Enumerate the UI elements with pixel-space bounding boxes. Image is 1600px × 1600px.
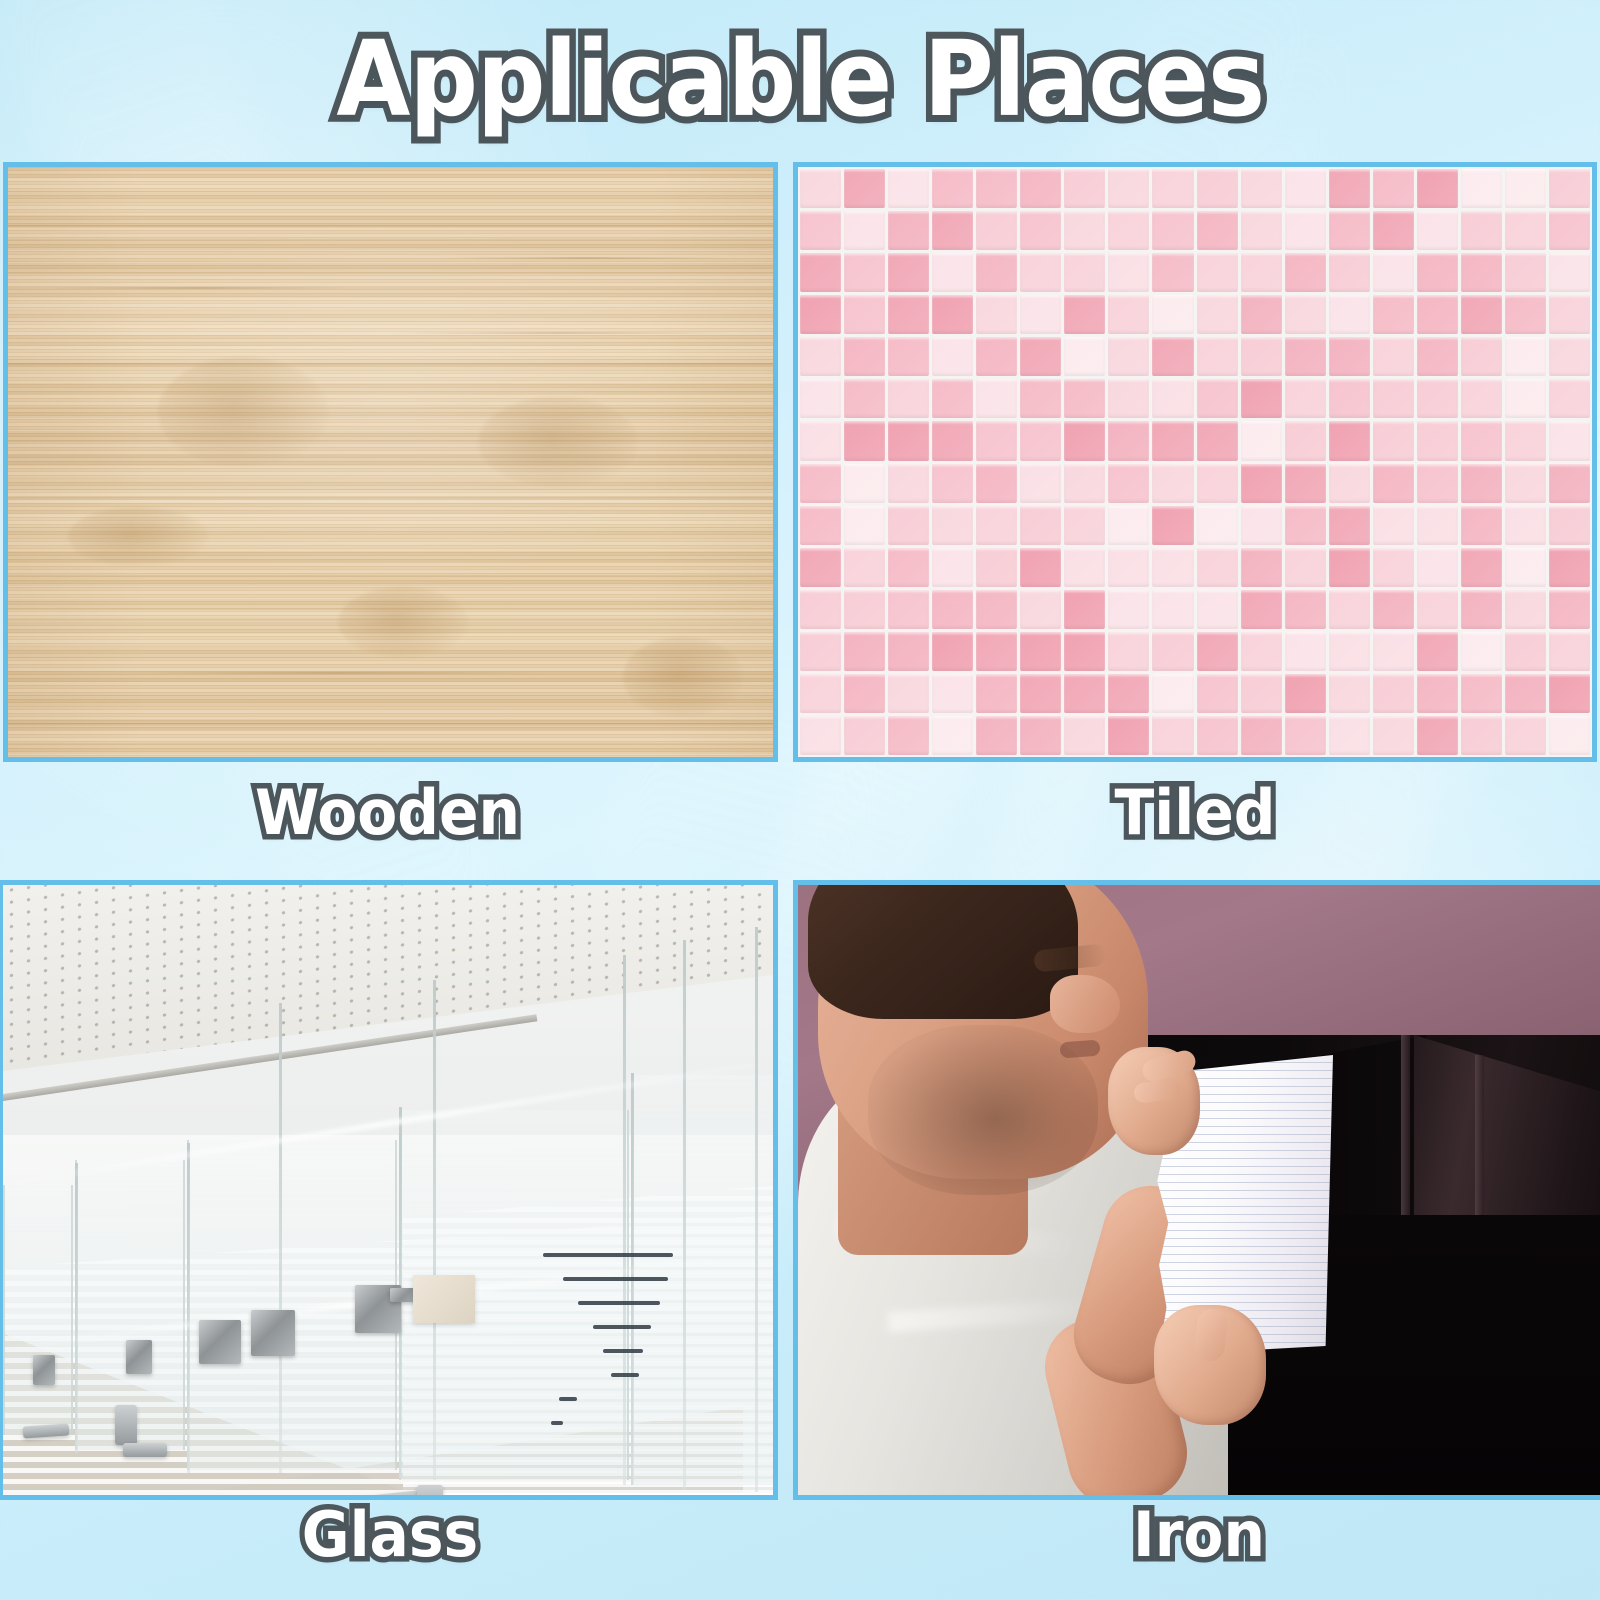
mosaic-tile <box>844 632 885 671</box>
mosaic-tile <box>1108 632 1149 671</box>
mosaic-tile <box>1197 169 1238 208</box>
mosaic-tile <box>1461 464 1502 503</box>
mosaic-tile <box>844 253 885 292</box>
mosaic-tile <box>1417 506 1458 545</box>
mosaic-tile <box>1197 295 1238 334</box>
mosaic-tile <box>1549 421 1590 460</box>
mosaic-tile <box>976 211 1017 250</box>
mosaic-tile <box>1417 421 1458 460</box>
mosaic-tile <box>1285 421 1326 460</box>
mosaic-tile <box>1064 548 1105 587</box>
mosaic-tile <box>976 295 1017 334</box>
mosaic-tile <box>844 169 885 208</box>
mosaic-tile <box>1020 421 1061 460</box>
iron-scene <box>798 885 1600 1495</box>
page-title: Applicable Places <box>336 18 1264 140</box>
mosaic-tile <box>1549 169 1590 208</box>
mosaic-tile <box>1020 548 1061 587</box>
mosaic-tile <box>1020 590 1061 629</box>
mosaic-tile <box>888 421 929 460</box>
mosaic-tile <box>1241 421 1282 460</box>
mosaic-tile <box>1241 674 1282 713</box>
mosaic-tile <box>888 211 929 250</box>
mosaic-tile <box>800 674 841 713</box>
mosaic-tile <box>976 464 1017 503</box>
mosaic-tile <box>844 716 885 755</box>
mosaic-tile <box>1152 169 1193 208</box>
mosaic-tile <box>1285 506 1326 545</box>
mosaic-tile <box>1064 337 1105 376</box>
mosaic-tile <box>1417 295 1458 334</box>
mosaic-tile <box>1329 211 1370 250</box>
mosaic-tile <box>1108 295 1149 334</box>
mosaic-tile <box>1549 506 1590 545</box>
mosaic-tile <box>1417 716 1458 755</box>
mosaic-tile <box>1152 590 1193 629</box>
mosaic-tile <box>1329 421 1370 460</box>
mosaic-tile <box>1197 464 1238 503</box>
mosaic-tile <box>1241 590 1282 629</box>
mosaic-tile <box>1020 506 1061 545</box>
mosaic-tile <box>1241 253 1282 292</box>
mosaic-tile <box>1505 337 1546 376</box>
person-hair <box>808 880 1078 1019</box>
caption-tiled: Tiled <box>817 776 1573 849</box>
mosaic-tile <box>932 211 973 250</box>
mosaic-tile <box>1285 548 1326 587</box>
mosaic-tile <box>1108 548 1149 587</box>
mosaic-tile <box>1152 421 1193 460</box>
mosaic-tile <box>976 716 1017 755</box>
mosaic-tile <box>1549 632 1590 671</box>
glass-scene <box>3 885 773 1495</box>
mosaic-tile <box>976 379 1017 418</box>
mosaic-tile <box>1285 632 1326 671</box>
mosaic-tile <box>1197 716 1238 755</box>
mosaic-tile <box>1241 169 1282 208</box>
mosaic-tile <box>1197 548 1238 587</box>
mosaic-tile <box>932 716 973 755</box>
mosaic-tile <box>888 506 929 545</box>
mosaic-tile <box>800 169 841 208</box>
mosaic-tile <box>888 674 929 713</box>
mosaic-tile <box>800 295 841 334</box>
mosaic-tile <box>800 253 841 292</box>
mosaic-tile <box>800 211 841 250</box>
mosaic-tile <box>1461 632 1502 671</box>
mosaic-tile <box>1064 464 1105 503</box>
mosaic-tile <box>1108 253 1149 292</box>
mosaic-tile <box>1020 169 1061 208</box>
mosaic-tile <box>800 506 841 545</box>
mosaic-tile <box>888 632 929 671</box>
mosaic-tile <box>1373 716 1414 755</box>
mosaic-tile <box>1329 253 1370 292</box>
panel-tiled <box>793 162 1597 762</box>
mosaic-tile <box>1505 295 1546 334</box>
mosaic-tile <box>888 464 929 503</box>
mosaic-tile <box>976 590 1017 629</box>
mosaic-tile <box>1152 674 1193 713</box>
mosaic-tile <box>800 421 841 460</box>
mosaic-tile <box>1505 632 1546 671</box>
mosaic-tile <box>976 548 1017 587</box>
mosaic-tile <box>1020 295 1061 334</box>
mosaic-tile <box>1197 253 1238 292</box>
mosaic-tile <box>1241 506 1282 545</box>
mosaic-tile <box>1417 169 1458 208</box>
mosaic-tile <box>1197 632 1238 671</box>
mosaic-tile <box>1020 379 1061 418</box>
mosaic-tile <box>1373 169 1414 208</box>
mosaic-tile <box>1064 632 1105 671</box>
mosaic-tile <box>1108 464 1149 503</box>
mosaic-tile <box>1373 337 1414 376</box>
mosaic-tile <box>1241 295 1282 334</box>
caption-iron: Iron <box>817 1498 1580 1571</box>
mosaic-tile <box>1108 590 1149 629</box>
mosaic-tile <box>1549 337 1590 376</box>
mosaic-tile <box>1241 716 1282 755</box>
mosaic-tile <box>1064 716 1105 755</box>
mosaic-tile <box>1197 211 1238 250</box>
mosaic-tile <box>1461 506 1502 545</box>
mosaic-tile <box>1373 632 1414 671</box>
mosaic-tile <box>1197 379 1238 418</box>
mosaic-tile <box>1241 548 1282 587</box>
mosaic-tile <box>1461 590 1502 629</box>
mosaic-tile <box>1505 253 1546 292</box>
mosaic-tile <box>1417 379 1458 418</box>
mosaic-tile <box>1064 674 1105 713</box>
mosaic-tile <box>888 337 929 376</box>
mosaic-tile <box>800 590 841 629</box>
mosaic-tile <box>888 548 929 587</box>
mosaic-tile <box>1020 253 1061 292</box>
mosaic-tile <box>932 464 973 503</box>
mosaic-tile <box>1152 464 1193 503</box>
mosaic-tile <box>1197 337 1238 376</box>
mosaic-tile <box>1329 295 1370 334</box>
mosaic-tile <box>1108 674 1149 713</box>
mosaic-tile <box>1285 337 1326 376</box>
mosaic-tile <box>1329 590 1370 629</box>
mosaic-tile <box>1064 590 1105 629</box>
mosaic-tile <box>1285 464 1326 503</box>
mosaic-tile <box>1064 211 1105 250</box>
mosaic-tile <box>844 464 885 503</box>
mosaic-tile <box>1064 253 1105 292</box>
mosaic-tile <box>1417 211 1458 250</box>
mosaic-tile <box>1064 506 1105 545</box>
mosaic-tile <box>976 337 1017 376</box>
mosaic-tile <box>1197 674 1238 713</box>
mosaic-tile <box>888 590 929 629</box>
mosaic-tile <box>932 253 973 292</box>
mosaic-tile <box>844 506 885 545</box>
mosaic-tile <box>888 379 929 418</box>
mosaic-tile <box>1020 211 1061 250</box>
mosaic-tile <box>1373 590 1414 629</box>
mosaic-tile <box>888 169 929 208</box>
mosaic-tile <box>844 379 885 418</box>
mosaic-tile <box>1152 548 1193 587</box>
mosaic-tile <box>1549 716 1590 755</box>
mosaic-tile <box>1373 253 1414 292</box>
mosaic-tile <box>1285 590 1326 629</box>
mosaic-tile <box>1461 253 1502 292</box>
mosaic-tile <box>1108 169 1149 208</box>
mosaic-tile <box>1064 169 1105 208</box>
mosaic-tile <box>1505 169 1546 208</box>
mosaic-tile <box>1461 548 1502 587</box>
mosaic-tile <box>1505 716 1546 755</box>
mosaic-tile <box>1549 590 1590 629</box>
mosaic-tile <box>1152 253 1193 292</box>
mosaic-tile <box>1505 674 1546 713</box>
mosaic-tile <box>1285 169 1326 208</box>
mosaic-tile <box>1108 506 1149 545</box>
mosaic-tile <box>844 295 885 334</box>
mosaic-tile <box>1417 632 1458 671</box>
mosaic-tile <box>1461 716 1502 755</box>
mosaic-tile <box>932 421 973 460</box>
panel-wooden <box>3 162 778 762</box>
mosaic-tile <box>1417 674 1458 713</box>
mosaic-tile <box>1241 379 1282 418</box>
mosaic-tile <box>1373 421 1414 460</box>
mosaic-tile <box>800 379 841 418</box>
mosaic-tile <box>1329 506 1370 545</box>
mosaic-tile <box>1461 295 1502 334</box>
mosaic-tile <box>1152 506 1193 545</box>
mosaic-tile <box>932 295 973 334</box>
mosaic-tile <box>1329 379 1370 418</box>
mosaic-tile <box>976 253 1017 292</box>
caption-glass: Glass <box>23 1498 756 1571</box>
mosaic-tile <box>1373 211 1414 250</box>
mosaic-tile <box>1461 421 1502 460</box>
panel-glass <box>0 880 778 1500</box>
mosaic-tile <box>1373 295 1414 334</box>
mosaic-tile <box>1064 421 1105 460</box>
mosaic-tile <box>1417 337 1458 376</box>
mosaic-tile <box>1020 464 1061 503</box>
mosaic-tile <box>1285 253 1326 292</box>
mosaic-tile <box>1417 464 1458 503</box>
mosaic-tile <box>1064 295 1105 334</box>
mosaic-tile <box>932 632 973 671</box>
mosaic-tile <box>1373 548 1414 587</box>
mosaic-tile <box>1417 548 1458 587</box>
mosaic-tile <box>932 379 973 418</box>
mosaic-tile <box>1549 464 1590 503</box>
mosaic-tile <box>1108 211 1149 250</box>
mosaic-tile <box>1461 337 1502 376</box>
mosaic-tile <box>976 169 1017 208</box>
mosaic-tile <box>1373 379 1414 418</box>
mosaic-tile <box>1285 674 1326 713</box>
mosaic-tile <box>1152 379 1193 418</box>
mosaic-tile <box>1020 716 1061 755</box>
mosaic-tile <box>1241 632 1282 671</box>
mosaic-tile <box>932 337 973 376</box>
mosaic-tile <box>844 337 885 376</box>
mosaic-tile <box>800 337 841 376</box>
mosaic-tile <box>1505 421 1546 460</box>
mosaic-tile <box>976 506 1017 545</box>
mosaic-tile <box>1108 716 1149 755</box>
mosaic-tile <box>932 548 973 587</box>
mosaic-tile <box>976 674 1017 713</box>
mosaic-tile <box>1152 716 1193 755</box>
mosaic-tile-grid <box>798 167 1592 757</box>
mosaic-tile <box>1329 464 1370 503</box>
mosaic-tile <box>1505 548 1546 587</box>
mosaic-tile <box>1108 379 1149 418</box>
mosaic-tile <box>1329 169 1370 208</box>
mosaic-tile <box>1197 590 1238 629</box>
mosaic-tile <box>1417 253 1458 292</box>
mosaic-tile <box>1417 590 1458 629</box>
mosaic-tile <box>1461 379 1502 418</box>
mosaic-tile <box>1549 253 1590 292</box>
mosaic-tile <box>1549 295 1590 334</box>
mosaic-tile <box>1020 337 1061 376</box>
mosaic-tile <box>976 632 1017 671</box>
mosaic-tile <box>800 632 841 671</box>
mosaic-tile <box>1152 337 1193 376</box>
mosaic-tile <box>1505 590 1546 629</box>
mosaic-tile <box>800 548 841 587</box>
mosaic-tile <box>888 253 929 292</box>
mosaic-tile <box>1505 211 1546 250</box>
mosaic-tile <box>976 421 1017 460</box>
caption-wooden: Wooden <box>23 776 752 849</box>
mosaic-tile <box>932 506 973 545</box>
mosaic-tile <box>1329 632 1370 671</box>
mosaic-tile <box>844 421 885 460</box>
mosaic-tile <box>800 464 841 503</box>
mosaic-tile <box>1197 421 1238 460</box>
mosaic-tile <box>1285 716 1326 755</box>
mosaic-tile <box>1461 211 1502 250</box>
mosaic-tile <box>1461 169 1502 208</box>
mosaic-tile <box>844 674 885 713</box>
mosaic-tile <box>1373 506 1414 545</box>
posted-note <box>413 1275 475 1323</box>
mosaic-tile <box>1329 716 1370 755</box>
mosaic-tile <box>1549 674 1590 713</box>
mosaic-tile <box>844 548 885 587</box>
mosaic-tile <box>1020 632 1061 671</box>
mosaic-tile <box>1461 674 1502 713</box>
mosaic-tile <box>1549 379 1590 418</box>
mosaic-tile <box>1285 295 1326 334</box>
mosaic-tile <box>844 590 885 629</box>
mosaic-tile <box>1373 674 1414 713</box>
mosaic-tile <box>1285 211 1326 250</box>
mosaic-tile <box>844 211 885 250</box>
mosaic-tile <box>1152 295 1193 334</box>
panel-iron <box>793 880 1600 1500</box>
mosaic-tile <box>888 716 929 755</box>
mosaic-tile <box>888 295 929 334</box>
mosaic-tile <box>1505 379 1546 418</box>
mosaic-tile <box>1505 506 1546 545</box>
mosaic-tile <box>1241 211 1282 250</box>
mosaic-tile <box>1020 674 1061 713</box>
mosaic-tile <box>1329 674 1370 713</box>
mosaic-tile <box>1108 337 1149 376</box>
mosaic-tile <box>1152 211 1193 250</box>
mosaic-tile <box>800 716 841 755</box>
mosaic-tile <box>1108 421 1149 460</box>
mosaic-tile <box>1549 548 1590 587</box>
mosaic-tile <box>1549 211 1590 250</box>
mosaic-tile <box>932 674 973 713</box>
mosaic-tile <box>1329 548 1370 587</box>
mosaic-tile <box>1241 464 1282 503</box>
mosaic-tile <box>1241 337 1282 376</box>
mosaic-tile <box>932 169 973 208</box>
mosaic-tile <box>932 590 973 629</box>
mosaic-tile <box>1285 379 1326 418</box>
mosaic-tile <box>1329 337 1370 376</box>
mosaic-tile <box>1152 632 1193 671</box>
mosaic-tile <box>1373 464 1414 503</box>
mosaic-tile <box>1505 464 1546 503</box>
mosaic-tile <box>1064 379 1105 418</box>
mosaic-tile <box>1197 506 1238 545</box>
page-title-container: Applicable Places <box>0 18 1600 140</box>
